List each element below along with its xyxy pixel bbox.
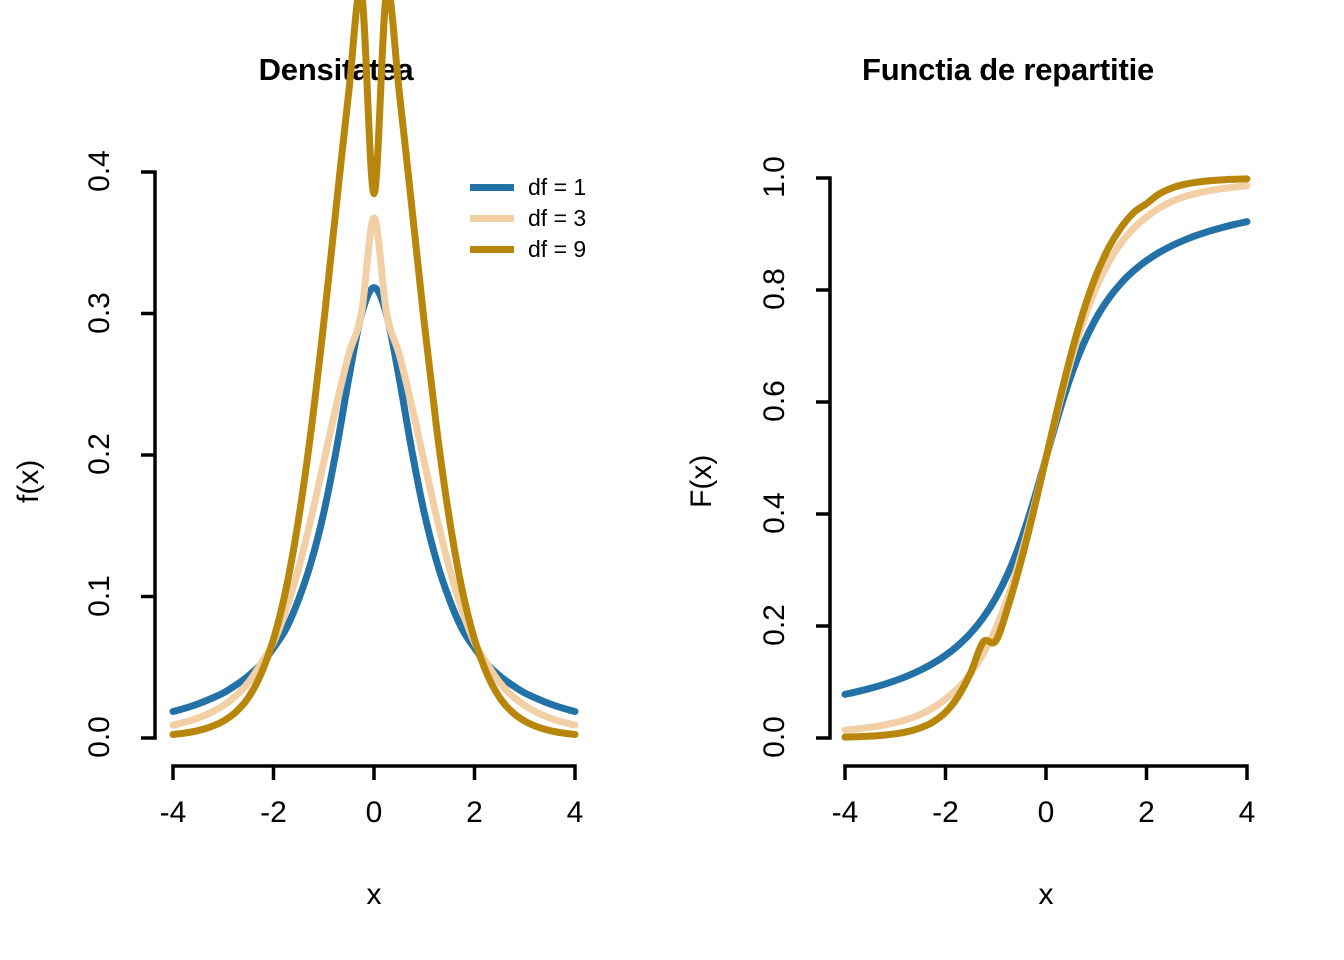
y-tick-marks <box>141 314 155 597</box>
panel-density: Densitatea 0.00.10.20.30.4 -4-2024 f(x) … <box>0 0 672 960</box>
density-curves <box>173 0 575 735</box>
y-axis-title-2: F(x) <box>685 428 719 508</box>
x-tick-label: 4 <box>1217 796 1277 830</box>
y-tick-label: 1.0 <box>758 142 792 212</box>
y-tick-label: 0.4 <box>83 136 117 206</box>
x-tick-label: 4 <box>545 796 605 830</box>
y-tick-label: 0.2 <box>758 590 792 660</box>
x-axis-title: x <box>344 878 404 912</box>
legend-swatch-icon <box>470 184 514 191</box>
cdf-axes <box>816 178 1247 780</box>
legend-swatch-icon <box>470 246 514 253</box>
y-tick-label: 0.1 <box>83 561 117 631</box>
legend-item[interactable]: df = 1 <box>470 172 586 203</box>
x-tick-label: 0 <box>1016 796 1076 830</box>
legend-item-label: df = 3 <box>528 205 586 232</box>
legend-item[interactable]: df = 9 <box>470 234 586 265</box>
legend-density: df = 1df = 3df = 9 <box>470 172 586 265</box>
legend-item-label: df = 1 <box>528 174 586 201</box>
x-tick-marks <box>274 766 475 780</box>
series-line <box>173 218 575 725</box>
y-axis-line-2 <box>816 178 830 738</box>
series-line <box>845 179 1247 737</box>
series-line <box>173 288 575 712</box>
figure-root: Densitatea 0.00.10.20.30.4 -4-2024 f(x) … <box>0 0 1344 960</box>
panel-cdf: Functia de repartitie 0.00.20.40.60.81.0… <box>672 0 1344 960</box>
x-tick-label: -2 <box>916 796 976 830</box>
x-tick-label: 0 <box>344 796 404 830</box>
y-tick-label: 0.4 <box>758 478 792 548</box>
x-tick-label: -2 <box>244 796 304 830</box>
legend-swatch-icon <box>470 215 514 222</box>
y-tick-marks-2 <box>816 290 830 626</box>
cdf-curves <box>845 179 1247 737</box>
series-line <box>173 0 575 735</box>
y-tick-label: 0.0 <box>758 702 792 772</box>
y-tick-label: 0.2 <box>83 419 117 489</box>
y-tick-label: 0.0 <box>83 702 117 772</box>
y-tick-label: 0.6 <box>758 366 792 436</box>
x-tick-label: -4 <box>143 796 203 830</box>
x-tick-label: -4 <box>815 796 875 830</box>
y-tick-label: 0.3 <box>83 278 117 348</box>
y-axis-title: f(x) <box>12 433 46 503</box>
x-tick-label: 2 <box>445 796 505 830</box>
x-tick-label: 2 <box>1117 796 1177 830</box>
legend-item[interactable]: df = 3 <box>470 203 586 234</box>
legend-item-label: df = 9 <box>528 236 586 263</box>
x-axis-title-2: x <box>1016 878 1076 912</box>
x-tick-marks-2 <box>946 766 1147 780</box>
y-tick-label: 0.8 <box>758 254 792 324</box>
